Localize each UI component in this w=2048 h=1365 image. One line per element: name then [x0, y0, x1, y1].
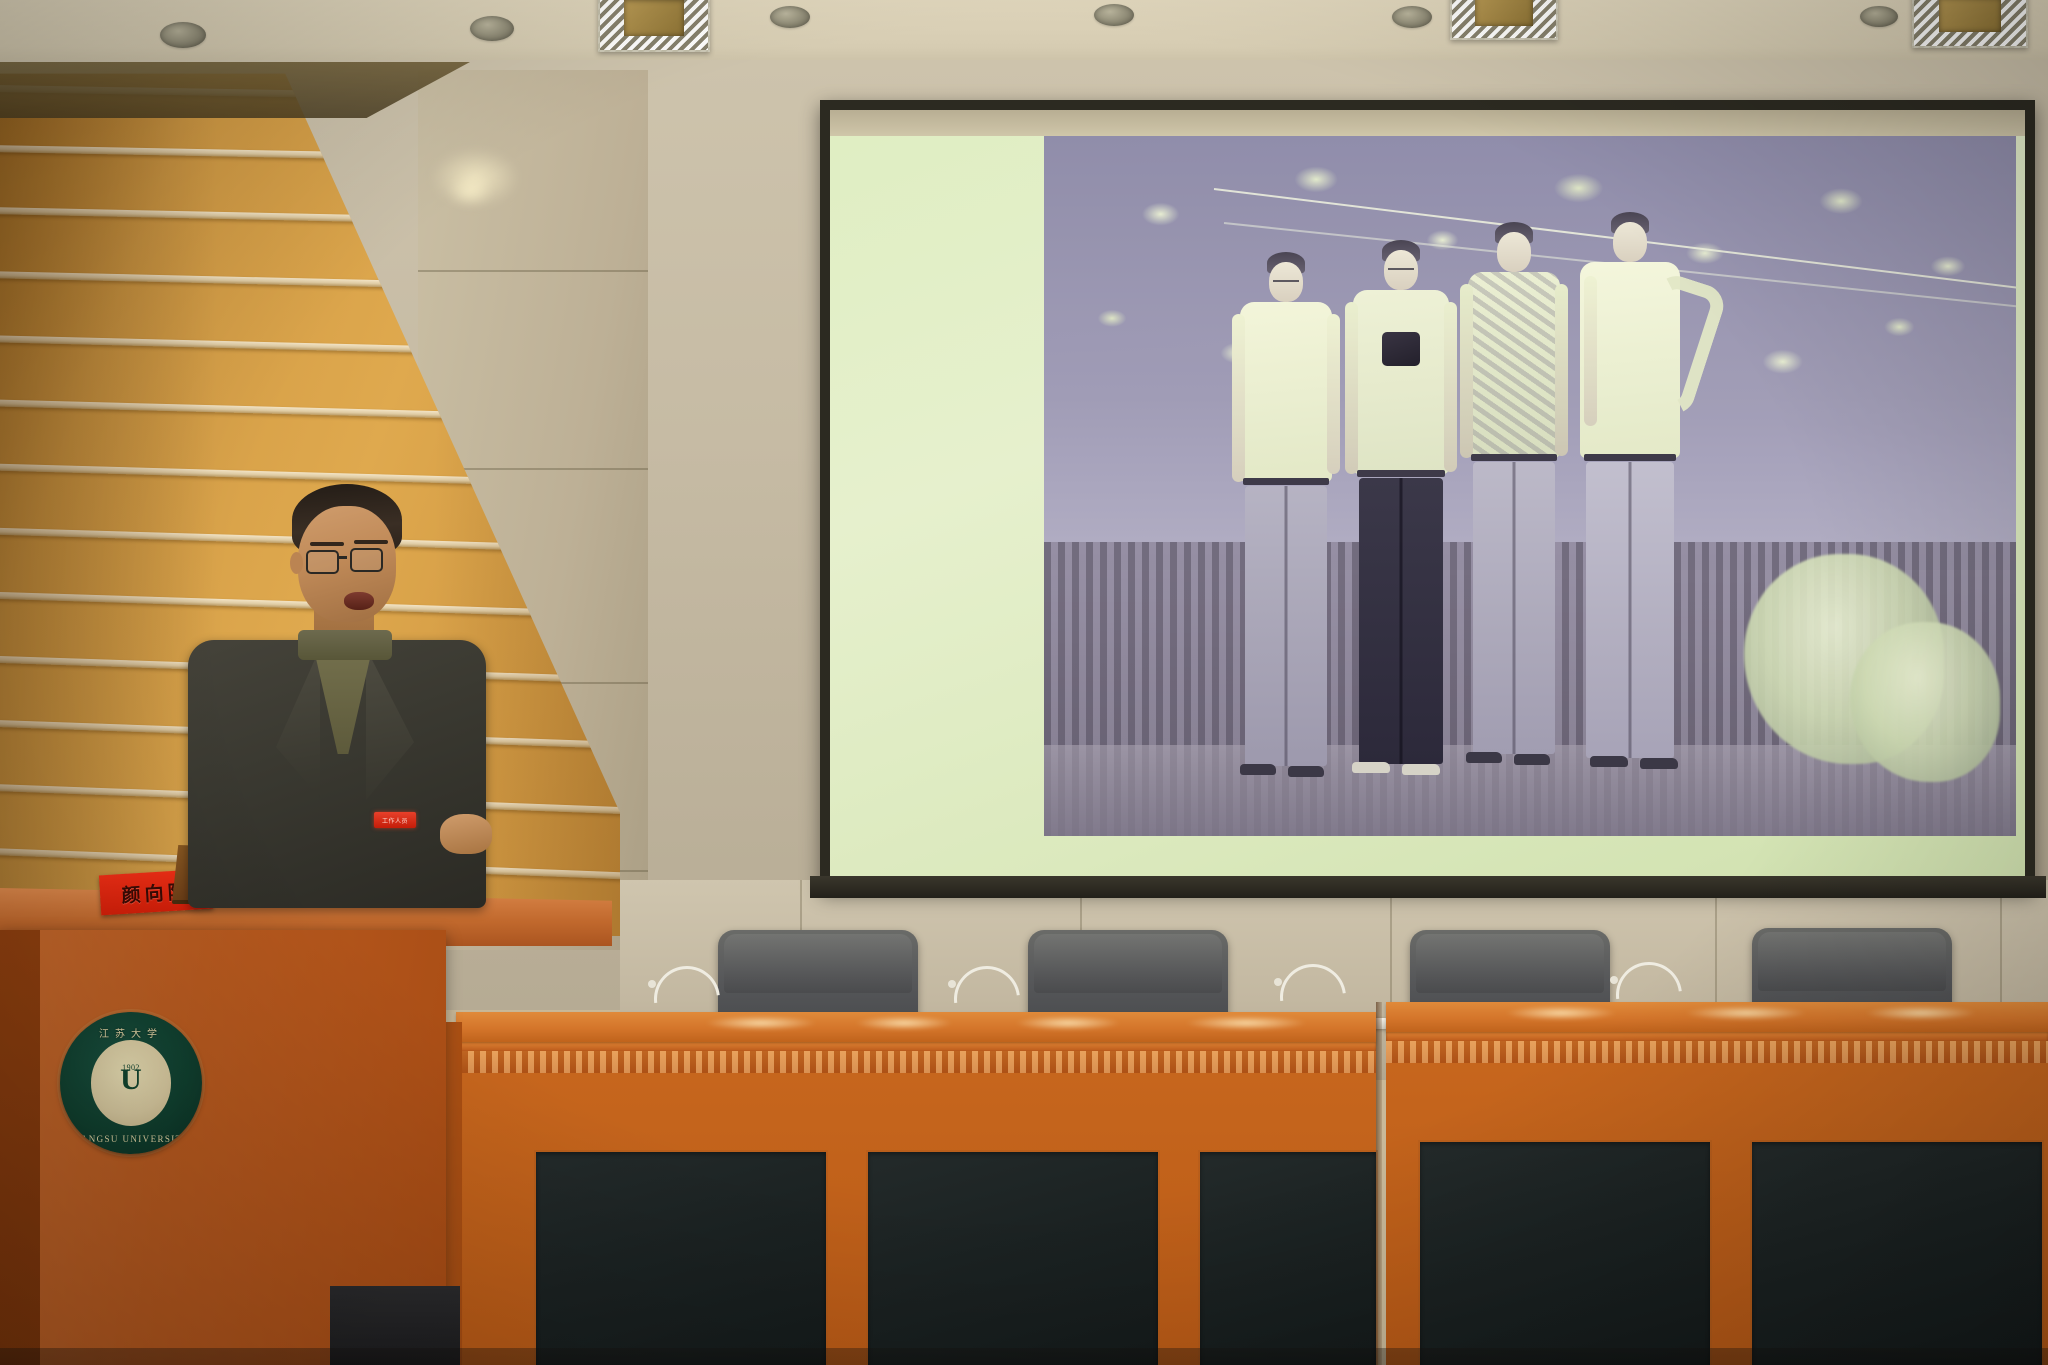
- legs: [1586, 462, 1674, 758]
- belt: [1243, 478, 1329, 485]
- screen-surface: [830, 110, 2025, 880]
- shoe: [1288, 766, 1324, 777]
- table-moulding: [1386, 1041, 2048, 1063]
- recessed-downlight: [470, 16, 514, 41]
- torso: [1353, 290, 1449, 474]
- legs: [1473, 462, 1555, 754]
- photo-person-4: [1566, 212, 1712, 806]
- hvac-diffuser-vent: [1912, 0, 2028, 48]
- screen-top-strip: [830, 110, 2025, 136]
- badge-text: 工作人员: [382, 816, 408, 825]
- legs: [1359, 478, 1443, 764]
- torso: [1468, 272, 1560, 458]
- photo-person-1: [1226, 252, 1346, 812]
- arm-left: [1345, 302, 1358, 474]
- red-lapel-badge: 工作人员: [374, 812, 416, 828]
- arm-left: [1232, 314, 1245, 482]
- auditorium-scene: 江苏大学 1902 U JIANGSU UNIVERSITY 颜向阳: [0, 0, 2048, 1365]
- emblem-inner-disc: 1902 U: [91, 1040, 171, 1125]
- glasses: [1388, 268, 1414, 276]
- recessed-downlight: [1860, 6, 1898, 27]
- glasses: [1273, 280, 1299, 288]
- table-moulding: [456, 1051, 1376, 1073]
- screen-valance: [810, 876, 2046, 898]
- projected-photograph: [1044, 136, 2016, 836]
- recessed-downlight: [1392, 6, 1432, 28]
- wall-light-glow: [448, 176, 492, 206]
- photo-person-2: [1340, 240, 1462, 810]
- recessed-downlight: [1094, 4, 1134, 26]
- shoe: [1590, 756, 1628, 767]
- speaker-glasses-left-lens: [306, 550, 339, 574]
- legs: [1245, 486, 1327, 766]
- jiangsu-university-emblem: 江苏大学 1902 U JIANGSU UNIVERSITY: [60, 1012, 202, 1154]
- speaker-glasses-right-lens: [350, 548, 383, 572]
- table-front-panel: [1420, 1142, 1710, 1365]
- shoe: [1466, 752, 1502, 763]
- emblem-english-name: JIANGSU UNIVERSITY: [60, 1134, 202, 1144]
- conference-table-left-section: [456, 1012, 1376, 1365]
- shoe: [1240, 764, 1276, 775]
- conference-table-right-section: [1386, 1002, 2048, 1365]
- emblem-monogram: U: [120, 1065, 142, 1095]
- table-front-panel: [868, 1152, 1158, 1365]
- projection-screen: [820, 100, 2035, 890]
- table-front-panel: [536, 1152, 826, 1365]
- presenting-speaker: 工作人员: [198, 480, 498, 900]
- speaker-brow-right: [354, 540, 388, 544]
- table-front-panel: [1200, 1152, 1376, 1365]
- speaker-collar: [298, 630, 392, 660]
- shoe: [1402, 764, 1440, 775]
- shirt-print-graphic: [1382, 332, 1420, 366]
- speaker-glasses-bridge: [337, 556, 347, 559]
- emblem-chinese-name: 江苏大学: [60, 1025, 202, 1040]
- vent-core: [1939, 0, 2002, 32]
- belt: [1357, 470, 1445, 477]
- head: [1613, 222, 1647, 262]
- stage-front-shadow: [0, 1348, 2048, 1365]
- arm-right: [1327, 314, 1340, 474]
- arm-left: [1584, 276, 1597, 426]
- vent-core: [624, 0, 685, 36]
- shoe: [1640, 758, 1678, 769]
- speaker-mouth: [344, 592, 374, 610]
- speaker-brow-left: [310, 542, 344, 546]
- shoe: [1352, 762, 1390, 773]
- table-section-gap: [1376, 1002, 1382, 1365]
- head: [1497, 232, 1531, 272]
- table-front-panel: [1752, 1142, 2042, 1365]
- podium-left-face: [0, 930, 40, 1365]
- arm-left: [1460, 284, 1473, 458]
- belt: [1584, 454, 1676, 461]
- vent-core: [1475, 0, 1533, 26]
- hvac-diffuser-vent: [598, 0, 710, 52]
- photo-person-3: [1454, 222, 1574, 808]
- torso: [1240, 302, 1332, 482]
- shoe: [1514, 754, 1550, 765]
- recessed-downlight: [770, 6, 810, 28]
- recessed-downlight: [160, 22, 206, 48]
- speaker-hand: [440, 814, 492, 854]
- belt: [1471, 454, 1557, 461]
- hvac-diffuser-vent: [1450, 0, 1558, 40]
- speaker-ear: [290, 552, 303, 574]
